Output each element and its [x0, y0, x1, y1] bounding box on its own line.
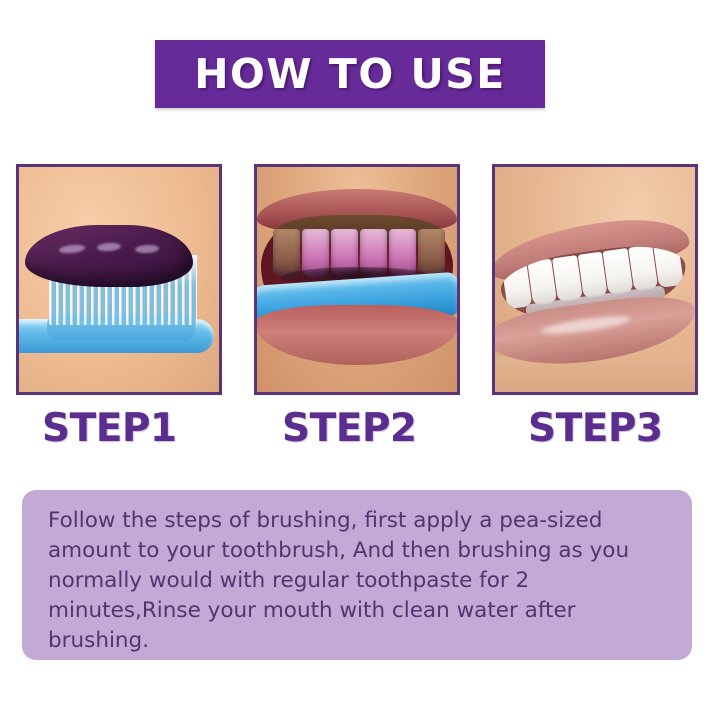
- page-title: HOW TO USE: [194, 50, 506, 98]
- how-to-use-banner: HOW TO USE: [155, 40, 545, 108]
- toothbrush-with-paste-photo: [19, 167, 219, 392]
- stained-teeth-brushing-photo: [257, 167, 457, 392]
- tooth: [418, 229, 445, 277]
- chin-area: [495, 357, 698, 395]
- step-3-image: [492, 164, 698, 395]
- step-label-3: STEP3: [528, 406, 663, 451]
- purple-toothpaste-blob: [25, 225, 193, 287]
- white-smile-photo: [495, 167, 695, 392]
- instructions-text: Follow the steps of brushing, first appl…: [48, 506, 668, 656]
- instructions-box: Follow the steps of brushing, first appl…: [22, 490, 692, 660]
- step-label-2: STEP2: [282, 406, 417, 451]
- tooth: [273, 229, 300, 277]
- step-label-1: STEP1: [42, 406, 177, 451]
- step-1-image: [16, 164, 222, 395]
- step-label-row: STEP1 STEP2 STEP3: [16, 406, 698, 458]
- step-image-row: [16, 164, 698, 395]
- step-2-image: [254, 164, 460, 395]
